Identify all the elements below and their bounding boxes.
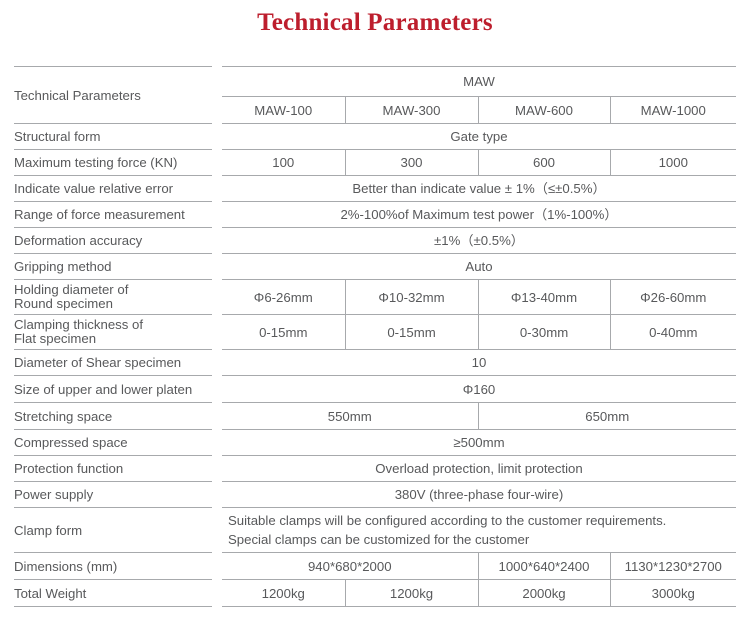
row-value-maximum-testing-force-2: 300 [345,150,478,176]
column-gutter [212,508,222,553]
row-value-total-weight-3: 2000kg [478,580,610,607]
row-label-total-weight: Total Weight [14,580,212,607]
column-gutter [212,67,222,124]
row-label-size-of-upper-and-lower-platen: Size of upper and lower platen [14,376,212,403]
row-label-maximum-testing-force: Maximum testing force (KN) [14,150,212,176]
table-row: Diameter of Shear specimen 10 [14,350,736,376]
row-label-holding-diameter-round-specimen: Holding diameter of Round specimen [14,280,212,315]
technical-parameters-page: Technical Parameters Technical Parameter… [0,0,750,639]
table-row: Clamping thickness of Flat specimen 0-15… [14,315,736,350]
table-row: Power supply 380V (three-phase four-wire… [14,482,736,508]
column-gutter [212,580,222,607]
clamp-form-line2: Special clamps can be customized for the… [228,532,529,547]
row-value-stretching-space-1: 550mm [222,403,478,430]
table-row: Structural form Gate type [14,124,736,150]
row-label-deformation-accuracy: Deformation accuracy [14,228,212,254]
row-label-line1: Clamping thickness of [14,317,143,332]
table-row: Gripping method Auto [14,254,736,280]
row-value-maximum-testing-force-3: 600 [478,150,610,176]
row-value-indicate-value-relative-error: Better than indicate value ± 1%（≤±0.5%） [222,176,736,202]
model-header-maw-1000: MAW-1000 [610,97,736,124]
row-value-structural-form: Gate type [222,124,736,150]
row-label-gripping-method: Gripping method [14,254,212,280]
row-value-range-of-force-measurement: 2%-100%of Maximum test power（1%-100%） [222,202,736,228]
row-label-line1: Holding diameter of [14,282,128,297]
row-label-diameter-of-shear-specimen: Diameter of Shear specimen [14,350,212,376]
column-gutter [212,280,222,315]
row-value-clamp-form: Suitable clamps will be configured accor… [222,508,736,553]
row-value-size-of-upper-and-lower-platen: Φ160 [222,376,736,403]
column-gutter [212,553,222,580]
row-value-total-weight-4: 3000kg [610,580,736,607]
row-label-compressed-space: Compressed space [14,430,212,456]
row-label-clamping-thickness-flat-specimen: Clamping thickness of Flat specimen [14,315,212,350]
row-value-total-weight-1: 1200kg [222,580,345,607]
row-value-clamping-thickness-2: 0-15mm [345,315,478,350]
row-value-holding-diameter-4: Φ26-60mm [610,280,736,315]
table-row: Protection function Overload protection,… [14,456,736,482]
column-gutter [212,482,222,508]
column-gutter [212,124,222,150]
model-header-maw-100: MAW-100 [222,97,345,124]
row-label-line2: Round specimen [14,296,113,311]
row-value-protection-function: Overload protection, limit protection [222,456,736,482]
row-label-line2: Flat specimen [14,331,96,346]
row-value-clamping-thickness-1: 0-15mm [222,315,345,350]
table-row: Maximum testing force (KN) 100 300 600 1… [14,150,736,176]
row-value-compressed-space: ≥500mm [222,430,736,456]
row-label-indicate-value-relative-error: Indicate value relative error [14,176,212,202]
column-gutter [212,176,222,202]
column-gutter [212,430,222,456]
clamp-form-line1: Suitable clamps will be configured accor… [228,513,666,528]
model-header-maw-300: MAW-300 [345,97,478,124]
row-label-clamp-form: Clamp form [14,508,212,553]
table-row: Total Weight 1200kg 1200kg 2000kg 3000kg [14,580,736,607]
row-value-holding-diameter-3: Φ13-40mm [478,280,610,315]
model-header-maw-600: MAW-600 [478,97,610,124]
row-value-gripping-method: Auto [222,254,736,280]
row-value-maximum-testing-force-1: 100 [222,150,345,176]
table-row: Range of force measurement 2%-100%of Max… [14,202,736,228]
table-row: Size of upper and lower platen Φ160 [14,376,736,403]
row-value-dimensions-1: 940*680*2000 [222,553,478,580]
column-gutter [212,350,222,376]
row-label-structural-form: Structural form [14,124,212,150]
row-label-power-supply: Power supply [14,482,212,508]
family-header-cell: MAW [222,67,736,97]
row-value-dimensions-2: 1000*640*2400 [478,553,610,580]
table-row: Deformation accuracy ±1%（±0.5%） [14,228,736,254]
column-gutter [212,315,222,350]
row-value-deformation-accuracy: ±1%（±0.5%） [222,228,736,254]
table-row: Dimensions (mm) 940*680*2000 1000*640*24… [14,553,736,580]
row-label-dimensions: Dimensions (mm) [14,553,212,580]
column-gutter [212,254,222,280]
row-label-range-of-force-measurement: Range of force measurement [14,202,212,228]
table-header-family-row: Technical Parameters MAW [14,67,736,97]
row-value-diameter-of-shear-specimen: 10 [222,350,736,376]
row-value-total-weight-2: 1200kg [345,580,478,607]
column-gutter [212,202,222,228]
column-gutter [212,228,222,254]
table-row: Clamp form Suitable clamps will be confi… [14,508,736,553]
row-value-dimensions-3: 1130*1230*2700 [610,553,736,580]
row-value-holding-diameter-1: Φ6-26mm [222,280,345,315]
table-row: Indicate value relative error Better tha… [14,176,736,202]
table-row: Stretching space 550mm 650mm [14,403,736,430]
row-label-stretching-space: Stretching space [14,403,212,430]
row-label-protection-function: Protection function [14,456,212,482]
column-gutter [212,456,222,482]
row-value-clamping-thickness-3: 0-30mm [478,315,610,350]
column-gutter [212,403,222,430]
row-value-clamping-thickness-4: 0-40mm [610,315,736,350]
column-gutter [212,150,222,176]
column-gutter [212,376,222,403]
row-value-holding-diameter-2: Φ10-32mm [345,280,478,315]
row-value-stretching-space-2: 650mm [478,403,736,430]
row-value-power-supply: 380V (three-phase four-wire) [222,482,736,508]
page-title: Technical Parameters [0,9,750,37]
table-row: Compressed space ≥500mm [14,430,736,456]
table-label-header: Technical Parameters [14,67,212,124]
row-value-maximum-testing-force-4: 1000 [610,150,736,176]
table-row: Holding diameter of Round specimen Φ6-26… [14,280,736,315]
technical-parameters-table: Technical Parameters MAW MAW-100 MAW-300… [14,66,736,607]
